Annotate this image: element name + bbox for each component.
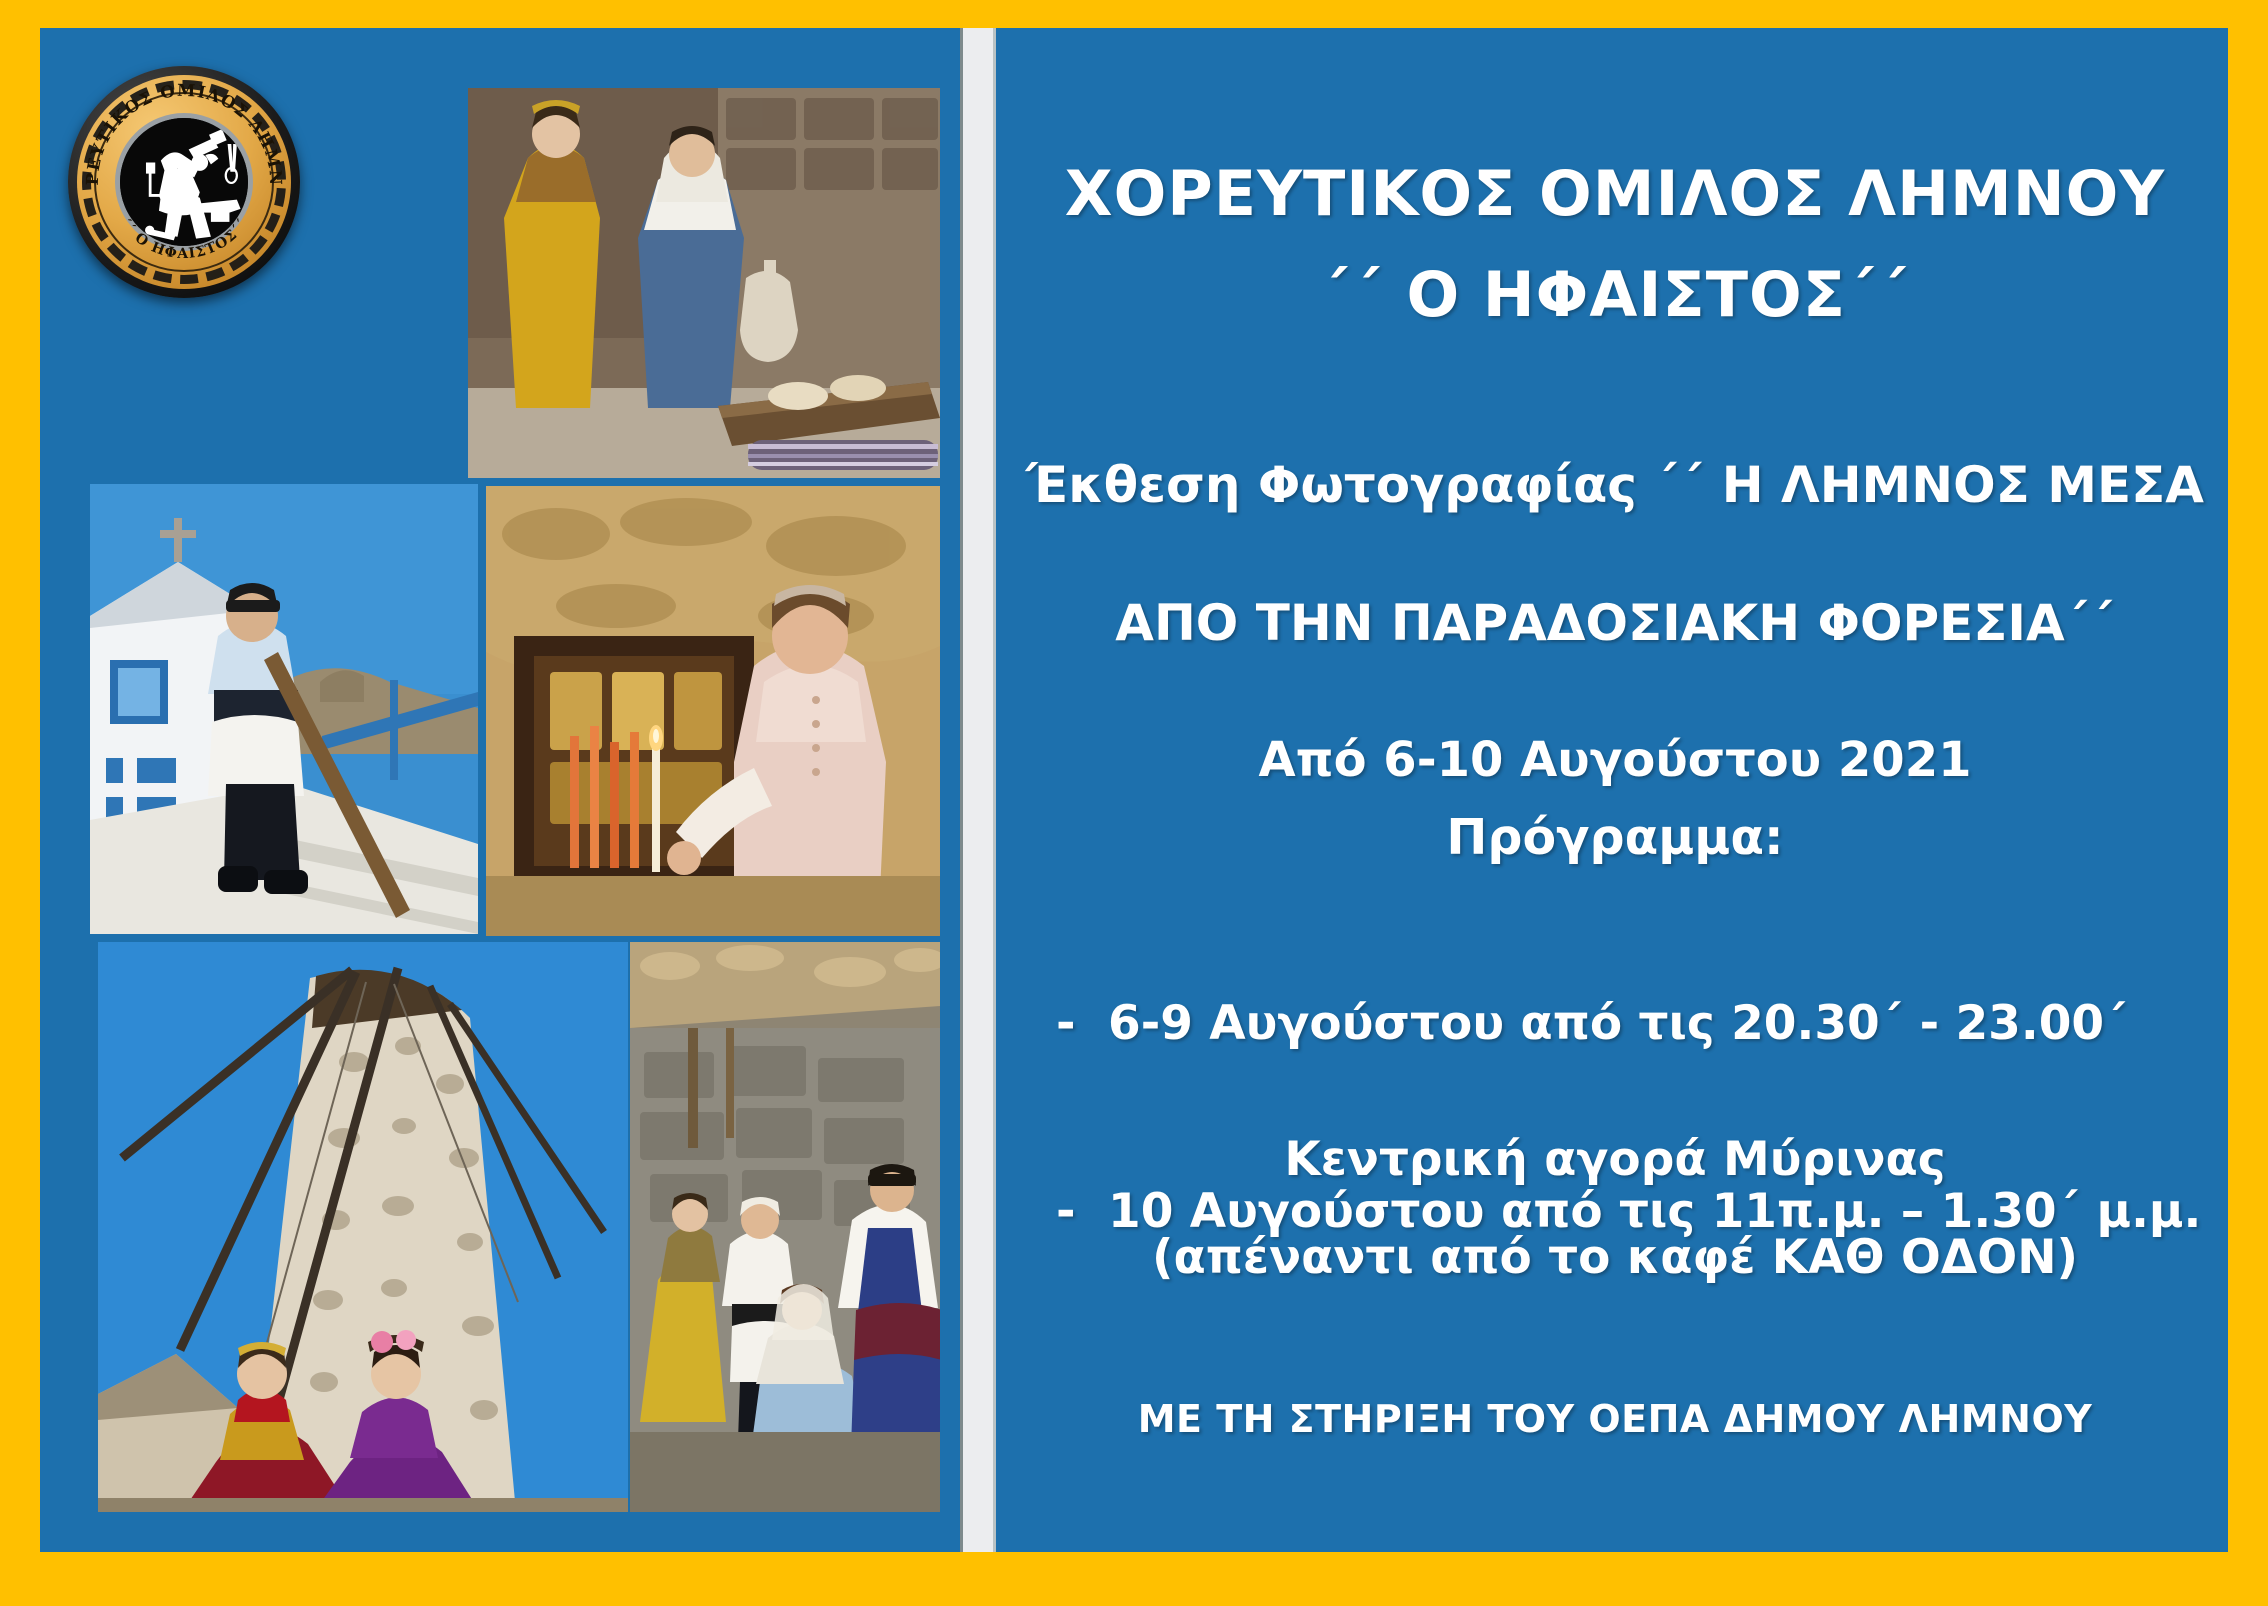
hephaestus-blacksmith-icon [115,113,253,251]
exhibition-dates: Από 6-10 Αυγούστου 2021 [1002,731,2228,790]
poster-canvas: ΧΟΡΕΥΤΙΚΟΣ ΟΜΙΛΟΣ ΛΗΜΝΟΥ ´´ Ο ΗΦΑΙΣΤΟΣ´´… [40,28,2228,1552]
exhibition-line-1: Έκθεση Φωτογραφίας ´´ Η ΛΗΜΝΟΣ ΜΕΣΑ [1002,455,2228,516]
program-heading: Πρόγραμμα: [1002,808,2228,868]
photo-blue-church-man-staff [90,484,478,934]
panel-divider [960,28,996,1552]
right-text-panel: ΧΟΡΕΥΤΙΚΟΣ ΟΜΙΛΟΣ ΛΗΜΝΟΥ ´´ Ο ΗΦΑΙΣΤΟΣ´´… [1002,28,2228,1552]
photo-women-with-amphora [468,88,940,478]
program-item-text: 6-9 Αυγούστου από τις 20.30´ - 23.00´ [1108,996,2128,1051]
photo-group-stone-wall [630,942,940,1512]
exhibition-subtitle: Έκθεση Φωτογραφίας ´´ Η ΛΗΜΝΟΣ ΜΕΣΑ ΑΠΟ … [1002,394,2228,867]
title-line-1: ΧΟΡΕΥΤΙΚΟΣ ΟΜΙΛΟΣ ΛΗΜΝΟΥ [1065,157,2165,230]
left-image-panel: ΧΟΡΕΥΤΙΚΟΣ ΟΜΙΛΟΣ ΛΗΜΝΟΥ ´´ Ο ΗΦΑΙΣΤΟΣ´´ [40,28,960,1552]
exhibition-line-2: ΑΠΟ ΤΗΝ ΠΑΡΑΔΟΣΙΑΚΗ ΦΟΡΕΣΙΑ´´ [1002,593,2228,654]
support-credit: ΜΕ ΤΗ ΣΤΗΡΙΞΗ ΤΟΥ ΟΕΠΑ ΔΗΜΟΥ ΛΗΜΝΟΥ [1002,1396,2228,1442]
photo-woman-lighting-candle [486,486,940,936]
venue-line-2: (απέναντι από το καφέ ΚΑΘ ΟΔΟΝ) [1002,1229,2228,1286]
title-line-2: ´´ Ο ΗΦΑΙΣΤΟΣ´´ [1002,257,2228,333]
program-item-bullet: - [1056,995,1108,1052]
poster-title: ΧΟΡΕΥΤΙΚΟΣ ΟΜΙΛΟΣ ΛΗΜΝΟΥ ´´ Ο ΗΦΑΙΣΤΟΣ´´ [1002,80,2228,409]
photo-windmill-dancers [98,942,628,1512]
venue-line-1: Κεντρική αγορά Μύρινας [1284,1132,1945,1187]
club-logo: ΧΟΡΕΥΤΙΚΟΣ ΟΜΙΛΟΣ ΛΗΜΝΟΥ ´´ Ο ΗΦΑΙΣΤΟΣ´´ [68,66,300,298]
poster-frame: ΧΟΡΕΥΤΙΚΟΣ ΟΜΙΛΟΣ ΛΗΜΝΟΥ ´´ Ο ΗΦΑΙΣΤΟΣ´´… [0,0,2268,1606]
program-item: -6-9 Αυγούστου από τις 20.30´ - 23.00´ [1056,937,2228,1052]
venue-block: Κεντρική αγορά Μύρινας (απέναντι από το … [1002,1074,2228,1343]
